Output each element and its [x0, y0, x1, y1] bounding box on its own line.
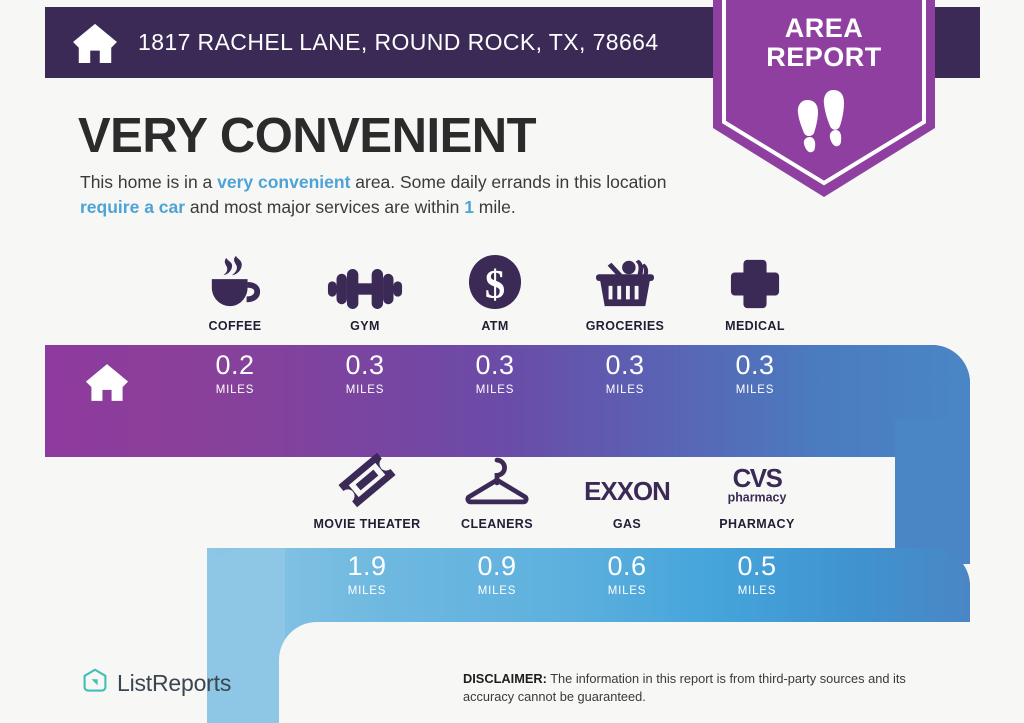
summary-highlight-1: very convenient	[217, 172, 350, 192]
amenity-label: PHARMACY	[719, 517, 794, 531]
coffee-cup-icon	[206, 252, 264, 310]
listreports-logo: ListReports	[82, 668, 231, 699]
distance-value: 0.3	[735, 352, 774, 379]
distance-cell: 0.3 MILES	[300, 352, 430, 396]
listreports-logo-icon	[82, 668, 108, 699]
distance-unit: MILES	[608, 585, 647, 597]
amenity-coffee: COFFEE	[170, 252, 300, 333]
distance-row-1: 0.2 MILES 0.3 MILES 0.3 MILES 0.3 MILES …	[170, 352, 820, 396]
cvs-logo: CVS pharmacy	[711, 450, 803, 508]
amenity-label: GROCERIES	[586, 319, 665, 333]
summary-part-1: This home is in a	[80, 172, 217, 192]
amenity-label: ATM	[481, 319, 508, 333]
distance-row-2: 1.9 MILES 0.9 MILES 0.6 MILES 0.5 MILES	[302, 553, 822, 597]
amenity-label: MOVIE THEATER	[313, 517, 420, 531]
disclaimer-label: DISCLAIMER:	[463, 671, 547, 686]
svg-text:EXXON: EXXON	[584, 478, 670, 506]
area-report-page: 1817 RACHEL LANE, ROUND ROCK, TX, 78664 …	[0, 0, 1024, 723]
distance-cell: 0.9 MILES	[432, 553, 562, 597]
amenity-groceries: GROCERIES	[560, 252, 690, 333]
amenity-movie-theater: MOVIE THEATER	[302, 450, 432, 531]
distance-ribbon	[0, 340, 1024, 723]
exxon-logo: EXXON	[581, 450, 673, 508]
dollar-circle-icon: $	[468, 252, 522, 310]
summary-text: This home is in a very convenient area. …	[80, 170, 720, 221]
badge-line-2: REPORT	[713, 43, 935, 72]
amenity-gym: GYM	[300, 252, 430, 333]
distance-unit: MILES	[346, 384, 385, 396]
distance-value: 0.3	[345, 352, 384, 379]
area-report-badge: AREA REPORT	[713, 0, 935, 197]
distance-unit: MILES	[478, 585, 517, 597]
summary-part-2: area. Some daily errands in this locatio…	[350, 172, 666, 192]
distance-cell: 0.2 MILES	[170, 352, 300, 396]
distance-unit: MILES	[606, 384, 645, 396]
distance-cell: 0.3 MILES	[430, 352, 560, 396]
distance-unit: MILES	[216, 384, 255, 396]
distance-value: 0.5	[737, 553, 776, 580]
distance-cell: 0.6 MILES	[562, 553, 692, 597]
grocery-basket-icon	[594, 252, 656, 310]
page-title: VERY CONVENIENT	[78, 108, 536, 164]
distance-value: 0.6	[607, 553, 646, 580]
distance-cell: 0.3 MILES	[560, 352, 690, 396]
summary-highlight-3: 1	[464, 197, 474, 217]
distance-value: 0.2	[215, 352, 254, 379]
distance-value: 0.9	[477, 553, 516, 580]
medical-cross-icon	[729, 252, 781, 310]
amenity-label: GYM	[350, 319, 380, 333]
header-address: 1817 RACHEL LANE, ROUND ROCK, TX, 78664	[138, 29, 659, 56]
svg-text:$: $	[485, 261, 505, 306]
distance-cell: 0.3 MILES	[690, 352, 820, 396]
amenity-label: MEDICAL	[725, 319, 785, 333]
clothes-hanger-icon	[461, 450, 533, 508]
amenity-medical: MEDICAL	[690, 252, 820, 333]
amenity-icon-row-2: MOVIE THEATER CLEANERS EXXON GAS CVS	[302, 450, 822, 531]
svg-text:pharmacy: pharmacy	[728, 490, 787, 504]
distance-cell: 1.9 MILES	[302, 553, 432, 597]
amenity-label: COFFEE	[208, 319, 261, 333]
distance-cell: 0.5 MILES	[692, 553, 822, 597]
distance-unit: MILES	[476, 384, 515, 396]
distance-unit: MILES	[736, 384, 775, 396]
dumbbell-icon	[327, 252, 403, 310]
badge-line-1: AREA	[713, 14, 935, 43]
distance-value: 0.3	[605, 352, 644, 379]
ribbon-home-icon	[85, 363, 129, 407]
distance-unit: MILES	[348, 585, 387, 597]
amenity-atm: $ ATM	[430, 252, 560, 333]
home-icon	[72, 22, 118, 64]
amenity-pharmacy: CVS pharmacy PHARMACY	[692, 450, 822, 531]
summary-part-4: mile.	[474, 197, 516, 217]
amenity-gas: EXXON GAS	[562, 450, 692, 531]
distance-unit: MILES	[738, 585, 777, 597]
distance-value: 0.3	[475, 352, 514, 379]
ticket-icon	[338, 450, 396, 508]
disclaimer: DISCLAIMER: The information in this repo…	[463, 670, 948, 706]
amenity-label: CLEANERS	[461, 517, 533, 531]
amenity-icon-row-1: COFFEE GYM	[170, 252, 820, 333]
listreports-logo-name: ListReports	[117, 670, 231, 697]
summary-highlight-2: require a car	[80, 197, 185, 217]
amenity-cleaners: CLEANERS	[432, 450, 562, 531]
amenity-label: GAS	[613, 517, 641, 531]
distance-value: 1.9	[347, 553, 386, 580]
svg-text:CVS: CVS	[733, 465, 783, 493]
summary-part-3: and most major services are within	[185, 197, 464, 217]
badge-text: AREA REPORT	[713, 14, 935, 72]
